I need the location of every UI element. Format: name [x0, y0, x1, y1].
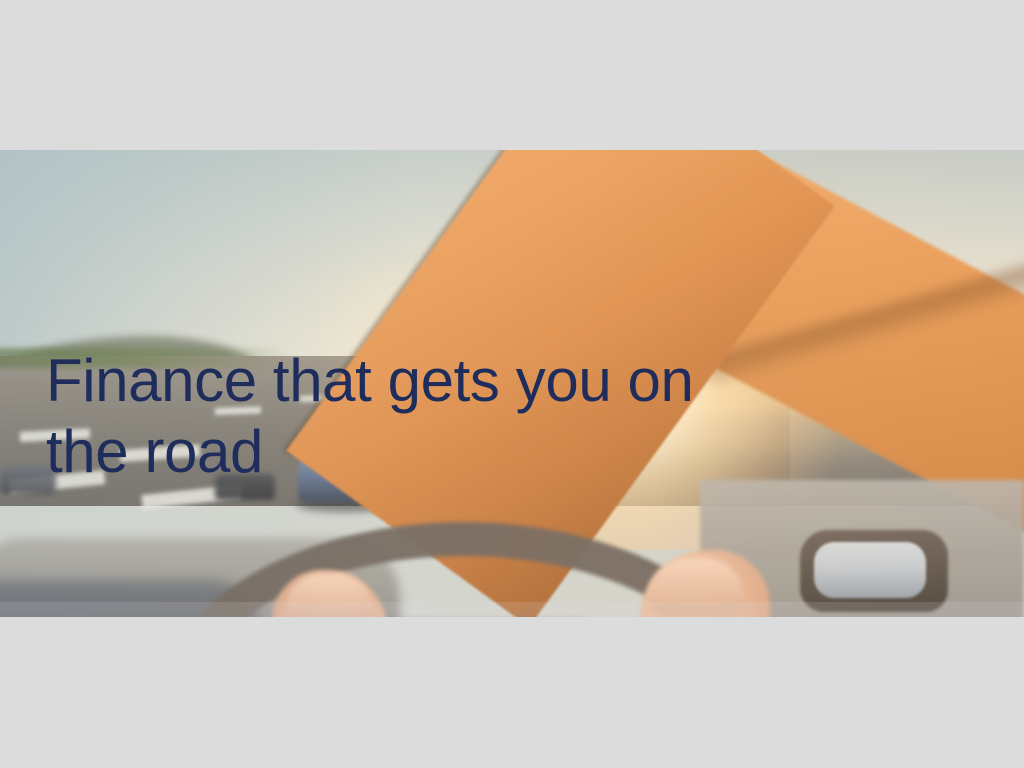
hero-banner: Finance that gets you on the road Credit…	[0, 150, 1024, 617]
hero-subheadline: Credit is subject to status and eligibil…	[47, 615, 1007, 617]
hero-headline: Finance that gets you on the road	[46, 346, 806, 488]
side-mirror-glass	[814, 542, 926, 598]
page-root: Finance that gets you on the road Credit…	[0, 0, 1024, 768]
driver-hand-right-fingers	[648, 558, 744, 617]
